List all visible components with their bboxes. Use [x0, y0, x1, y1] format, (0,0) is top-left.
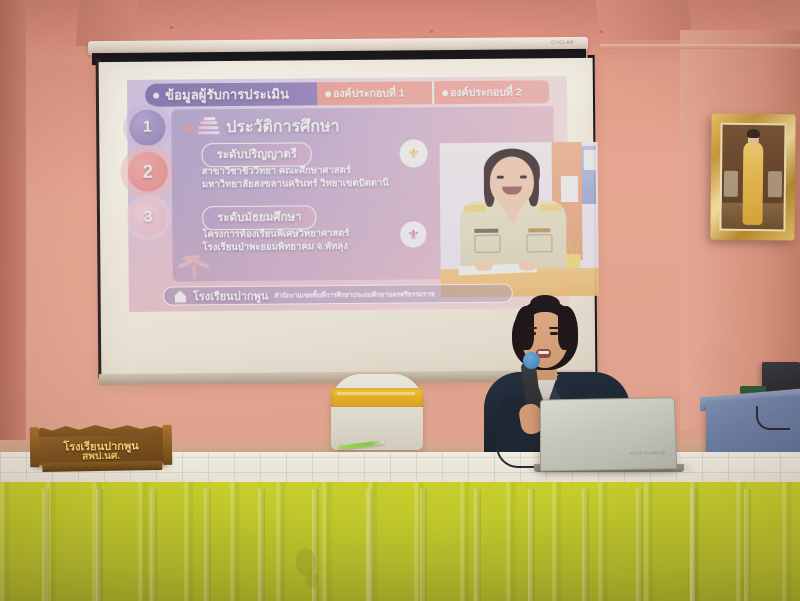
- secondary-line-1: โครงการห้องเรียนพิเศษวิทยาศาสตร์: [202, 227, 349, 241]
- photo-rank-badge: [528, 228, 550, 232]
- education-detail-bachelor: สาขาวิชาชีววิทยา คณะศึกษาศาสตร์ มหาวิทยา…: [202, 164, 389, 192]
- step-circle-3: 3: [130, 200, 166, 236]
- slide-footer-school: โรงเรียนปากพูน: [193, 286, 269, 305]
- presentation-room-photo: CYCLAR ข้อมูลผู้รับการประเมิน องค์ประกอบ…: [0, 0, 800, 601]
- skirt-fold: [636, 489, 643, 601]
- step-circle-2-active: 2: [128, 152, 168, 192]
- wall-rail: [600, 44, 800, 49]
- photo-name-tag: [474, 229, 498, 233]
- wall-speck: [430, 30, 433, 33]
- school-building-icon: [174, 290, 187, 302]
- skirt-fold: [582, 489, 589, 601]
- photo-eye-left: [497, 176, 504, 179]
- bullet-dot-icon: [325, 91, 331, 97]
- portrait-backdrop-left: [724, 171, 738, 197]
- slide-tab-1-label: องค์ประกอบที่ 1: [333, 85, 405, 103]
- skirt-fold: [420, 489, 427, 601]
- step-circle-1: 1: [129, 110, 165, 146]
- photo-pocket-right: [526, 234, 552, 252]
- photo-face: [490, 156, 534, 206]
- secondary-line-2: โรงเรียนป่าพะยอมพิทยาคม จ.พัทลุง: [202, 240, 349, 254]
- skirt-fold: [42, 489, 49, 601]
- palm-decoration-icon: [174, 239, 214, 279]
- photo-shelf-item: [584, 150, 596, 170]
- skirt-fold: [744, 489, 751, 601]
- photo-hand-left: [475, 261, 493, 271]
- portrait-backdrop-right: [768, 171, 782, 197]
- wall-left-edge: [0, 0, 26, 470]
- photo-epaulet-left: [464, 205, 486, 212]
- double-chevron-icon: »»: [181, 119, 190, 136]
- royal-portrait-frame: [710, 114, 795, 241]
- portrait-hair: [747, 129, 760, 138]
- photo-epaulet-right: [540, 204, 562, 211]
- slide-content-panel: »» ประวัติการศึกษา ระดับปริญญาตรี สาขาวิ…: [171, 106, 554, 281]
- nameplate-base: [42, 461, 162, 472]
- royal-portrait-canvas: [719, 123, 786, 232]
- portrait-figure: [742, 141, 763, 225]
- slide-footer-bar: โรงเรียนปากพูน สำนักงานเขตพื้นที่การศึกษ…: [163, 284, 513, 306]
- skirt-fold: [474, 489, 481, 601]
- photo-hand-right: [519, 260, 537, 270]
- bullet-dot-icon: [442, 90, 448, 96]
- slide-title-bar: ข้อมูลผู้รับการประเมิน องค์ประกอบที่ 1 อ…: [145, 80, 549, 107]
- ceiling-beam-right: [595, 0, 693, 40]
- wooden-nameplate: โรงเรียนปากพูน สพป.นศ.: [28, 423, 175, 474]
- skirt-fold: [96, 489, 103, 601]
- photo-door-notice: [561, 176, 578, 202]
- bachelor-line-2: มหาวิทยาลัยสงขลานครินทร์ วิทยาเขตปัตตานี: [202, 177, 389, 192]
- slide-tab-2-label: องค์ประกอบที่ 2: [450, 83, 522, 101]
- skirt-fold: [528, 489, 535, 601]
- monitor-cable: [756, 406, 790, 430]
- table-skirt: [0, 482, 800, 601]
- slide-footer-office: สำนักงานเขตพื้นที่การศึกษาประถมศึกษานครศ…: [274, 289, 434, 300]
- slide-section-header: »» ประวัติการศึกษา: [181, 114, 339, 140]
- presenter-uniform-photo: [440, 142, 599, 297]
- school-seal-icon: ⚜: [400, 221, 426, 247]
- slide-tab-component-2: องค์ประกอบที่ 2: [432, 80, 549, 104]
- skirt-fold: [150, 489, 157, 601]
- photo-pocket-left: [474, 235, 500, 253]
- laptop-brand-label: ASUS VivoBook: [629, 450, 666, 457]
- presenter-hair-bun: [530, 295, 560, 313]
- projected-slide: ข้อมูลผู้รับการประเมิน องค์ประกอบที่ 1 อ…: [127, 76, 569, 312]
- slide-main-tab: ข้อมูลผู้รับการประเมิน: [145, 82, 317, 107]
- photo-plant-pot: [565, 254, 581, 268]
- slide-main-tab-label: ข้อมูลผู้รับการประเมิน: [165, 84, 289, 106]
- education-detail-secondary: โครงการห้องเรียนพิเศษวิทยาศาสตร์ โรงเรีย…: [202, 227, 349, 254]
- skirt-fold: [258, 489, 265, 601]
- ceiling-beam-left: [76, 0, 139, 46]
- chair-gold-sash: [331, 388, 423, 407]
- skirt-fold: [690, 489, 697, 601]
- photo-eye-right: [520, 175, 527, 178]
- screen-brand-label: CYCLAR: [551, 40, 574, 46]
- university-seal-icon: ⚜: [400, 139, 428, 167]
- slide-section-title: ประวัติการศึกษา: [226, 114, 340, 140]
- presenter-eyebrow-left: [527, 327, 537, 329]
- presenter-eyebrow-right: [549, 327, 559, 329]
- skirt-fold: [204, 489, 211, 601]
- wall-speck: [170, 26, 173, 29]
- banquet-chair: [331, 374, 423, 450]
- presenter-eye-right: [550, 332, 558, 335]
- presenter-eye-left: [528, 332, 536, 335]
- book-stack-icon: [197, 118, 219, 138]
- slide-tab-component-1: องค์ประกอบที่ 1: [317, 81, 432, 105]
- slide-step-rail: 1 2 3: [127, 106, 172, 246]
- bullet-dot-icon: [153, 92, 159, 98]
- skirt-stain: [306, 572, 318, 588]
- wall-speck: [600, 30, 603, 33]
- skirt-fold: [366, 489, 373, 601]
- presenter-hair-right: [558, 306, 578, 350]
- laptop: ASUS VivoBook: [540, 397, 677, 471]
